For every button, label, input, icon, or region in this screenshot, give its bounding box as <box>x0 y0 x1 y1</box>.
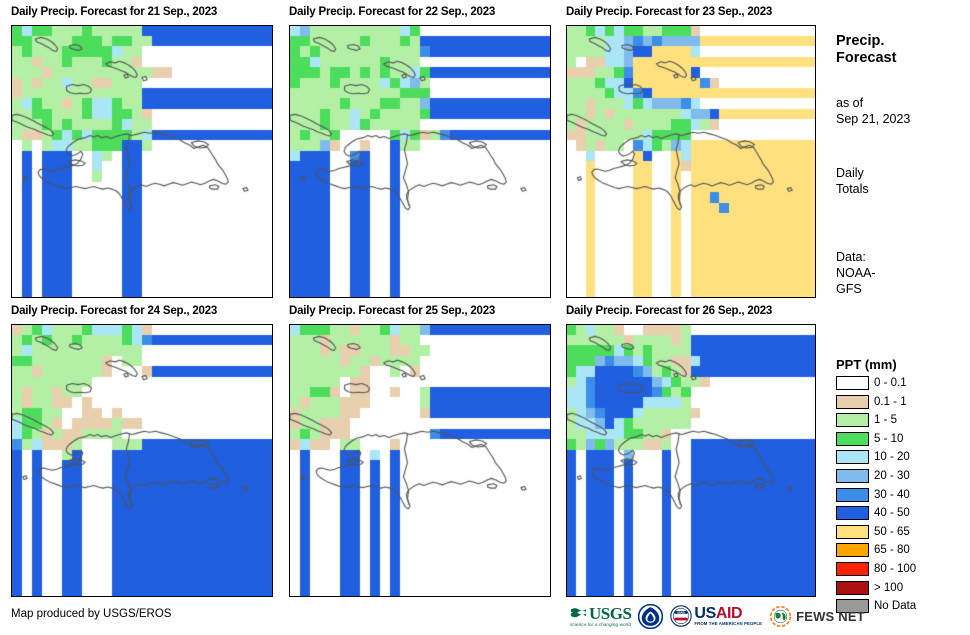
data-source-line2: NOAA- <box>836 266 876 282</box>
usgs-tagline: science for a changing world <box>570 622 631 627</box>
legend-swatch <box>836 432 869 446</box>
map-credit: Map produced by USGS/EROS <box>11 608 171 620</box>
as-of-line1: as of <box>836 96 863 112</box>
map-panel-25-sep[interactable] <box>289 324 551 597</box>
map-panel-26-sep[interactable] <box>566 324 816 597</box>
legend-label: 20 - 30 <box>874 469 910 483</box>
map-panel-22-sep[interactable] <box>289 25 551 298</box>
map-panel-21-sep[interactable] <box>11 25 273 298</box>
legend-swatch <box>836 469 869 483</box>
legend-label: 0 - 0.1 <box>874 376 907 390</box>
usgs-wordmark: USGS <box>589 606 631 622</box>
product-heading-line2: Forecast <box>836 50 896 67</box>
panel-title-3: Daily Precip. Forecast for 23 Sep., 2023 <box>566 6 772 18</box>
map-canvas <box>290 26 550 297</box>
legend-title: PPT (mm) <box>836 357 897 372</box>
legend-label: 1 - 5 <box>874 413 897 427</box>
legend-label: No Data <box>874 599 916 613</box>
legend-label: 5 - 10 <box>874 432 903 446</box>
data-source-line3: GFS <box>836 282 862 298</box>
legend-swatch <box>836 506 869 520</box>
legend-label: 40 - 50 <box>874 506 910 520</box>
data-source-line1: Data: <box>836 250 866 266</box>
panel-title-6: Daily Precip. Forecast for 26 Sep., 2023 <box>566 305 772 317</box>
svg-text:USAID: USAID <box>678 612 686 615</box>
map-canvas <box>12 325 272 596</box>
legend-swatch <box>836 450 869 464</box>
usaid-logo[interactable]: USAID USAID FROM THE AMERICAN PEOPLE <box>670 605 762 627</box>
fews-net-logo[interactable]: FEWS NET <box>769 605 865 628</box>
legend-swatch <box>836 562 869 576</box>
legend-swatch <box>836 376 869 390</box>
legend-label: > 100 <box>874 581 903 595</box>
legend-swatch <box>836 543 869 557</box>
usgs-wave-icon <box>570 606 587 621</box>
legend-swatch <box>836 413 869 427</box>
totals-line2: Totals <box>836 182 869 198</box>
legend-label: 80 - 100 <box>874 562 916 576</box>
usgs-logo[interactable]: USGS science for a changing world <box>570 606 631 627</box>
noaa-logo[interactable] <box>638 604 663 629</box>
map-canvas <box>12 26 272 297</box>
usaid-tagline: FROM THE AMERICAN PEOPLE <box>694 621 762 626</box>
panel-title-2: Daily Precip. Forecast for 22 Sep., 2023 <box>289 6 495 18</box>
legend-label: 10 - 20 <box>874 450 910 464</box>
legend-label: 0.1 - 1 <box>874 395 907 409</box>
map-panel-23-sep[interactable] <box>566 25 816 298</box>
usaid-wordmark: USAID <box>694 606 742 621</box>
map-canvas <box>567 325 815 596</box>
legend-swatch <box>836 395 869 409</box>
legend-swatch <box>836 488 869 502</box>
panel-title-1: Daily Precip. Forecast for 21 Sep., 2023 <box>11 6 217 18</box>
legend-swatch <box>836 525 869 539</box>
panel-title-5: Daily Precip. Forecast for 25 Sep., 2023 <box>289 305 495 317</box>
legend-label: 30 - 40 <box>874 488 910 502</box>
map-canvas <box>290 325 550 596</box>
fews-globe-icon <box>769 605 792 628</box>
usaid-seal-icon: USAID <box>670 605 692 627</box>
fews-net-wordmark: FEWS NET <box>796 609 865 624</box>
map-panel-24-sep[interactable] <box>11 324 273 597</box>
legend-swatch <box>836 581 869 595</box>
as-of-line2: Sep 21, 2023 <box>836 112 910 128</box>
map-canvas <box>567 26 815 297</box>
logo-strip: USGS science for a changing world USAID … <box>570 600 865 632</box>
legend-label: 65 - 80 <box>874 543 910 557</box>
panel-title-4: Daily Precip. Forecast for 24 Sep., 2023 <box>11 305 217 317</box>
product-heading-line1: Precip. <box>836 33 884 50</box>
totals-line1: Daily <box>836 166 864 182</box>
legend-label: 50 - 65 <box>874 525 910 539</box>
